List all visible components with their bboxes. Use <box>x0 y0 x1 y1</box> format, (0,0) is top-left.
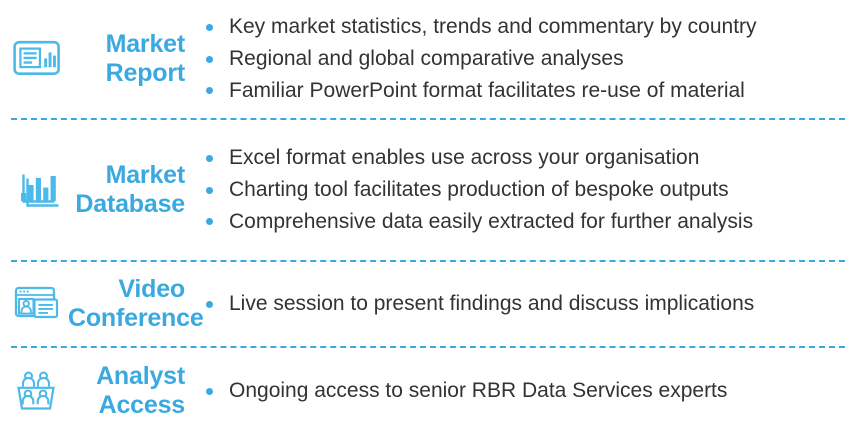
deliverables-panel: Market Report Key market statistics, tre… <box>0 0 854 428</box>
bullet-dot-icon <box>206 187 213 194</box>
section-title-line-2: Database <box>68 190 185 219</box>
feature-row-market-report: Market Report Key market statistics, tre… <box>0 0 854 118</box>
list-item-text: Excel format enables use across your org… <box>229 146 699 169</box>
list-item-text: Familiar PowerPoint format facilitates r… <box>229 79 745 102</box>
people-group-icon <box>6 368 68 414</box>
section-title-line-1: Video <box>68 275 185 304</box>
section-title-line-1: Analyst <box>68 362 185 391</box>
list-item: Live session to present findings and dis… <box>199 288 854 320</box>
section-title-line-2: Access <box>68 391 185 420</box>
list-item-text: Ongoing access to senior RBR Data Servic… <box>229 379 727 402</box>
bullets-market-database: Excel format enables use across your org… <box>193 142 854 238</box>
section-title-video-conference: Video Conference <box>68 275 193 333</box>
list-item: Regional and global comparative analyses <box>199 43 854 75</box>
list-item-text: Comprehensive data easily extracted for … <box>229 210 753 233</box>
bar-chart-icon <box>6 168 68 212</box>
bullet-dot-icon <box>206 87 213 94</box>
list-item: Charting tool facilitates production of … <box>199 174 854 206</box>
list-item: Comprehensive data easily extracted for … <box>199 206 854 238</box>
bullet-dot-icon <box>206 301 213 308</box>
bullets-analyst-access: Ongoing access to senior RBR Data Servic… <box>193 375 854 407</box>
feature-row-video-conference: Video Conference Live session to present… <box>0 262 854 346</box>
section-title-line-2: Conference <box>68 304 185 333</box>
feature-row-market-database: Market Database Excel format enables use… <box>0 120 854 260</box>
report-document-chart-icon <box>6 38 68 80</box>
section-title-market-report: Market Report <box>68 30 193 88</box>
bullet-list: Live session to present findings and dis… <box>199 288 854 320</box>
bullet-list: Key market statistics, trends and commen… <box>199 11 854 107</box>
bullets-market-report: Key market statistics, trends and commen… <box>193 11 854 107</box>
section-title-market-database: Market Database <box>68 161 193 219</box>
section-title-analyst-access: Analyst Access <box>68 362 193 420</box>
list-item-text: Regional and global comparative analyses <box>229 47 624 70</box>
list-item-text: Key market statistics, trends and commen… <box>229 15 757 38</box>
bullet-dot-icon <box>206 388 213 395</box>
list-item: Key market statistics, trends and commen… <box>199 11 854 43</box>
feature-row-analyst-access: Analyst Access Ongoing access to senior … <box>0 348 854 434</box>
bullet-dot-icon <box>206 218 213 225</box>
bullet-list: Ongoing access to senior RBR Data Servic… <box>199 375 854 407</box>
section-title-line-1: Market <box>68 30 185 59</box>
section-title-line-2: Report <box>68 59 185 88</box>
bullet-dot-icon <box>206 24 213 31</box>
video-conference-icon <box>6 283 68 325</box>
list-item-text: Charting tool facilitates production of … <box>229 178 729 201</box>
list-item: Excel format enables use across your org… <box>199 142 854 174</box>
list-item-text: Live session to present findings and dis… <box>229 292 754 315</box>
bullet-list: Excel format enables use across your org… <box>199 142 854 238</box>
bullets-video-conference: Live session to present findings and dis… <box>193 288 854 320</box>
list-item: Ongoing access to senior RBR Data Servic… <box>199 375 854 407</box>
section-title-line-1: Market <box>68 161 185 190</box>
bullet-dot-icon <box>206 155 213 162</box>
list-item: Familiar PowerPoint format facilitates r… <box>199 75 854 107</box>
bullet-dot-icon <box>206 56 213 63</box>
